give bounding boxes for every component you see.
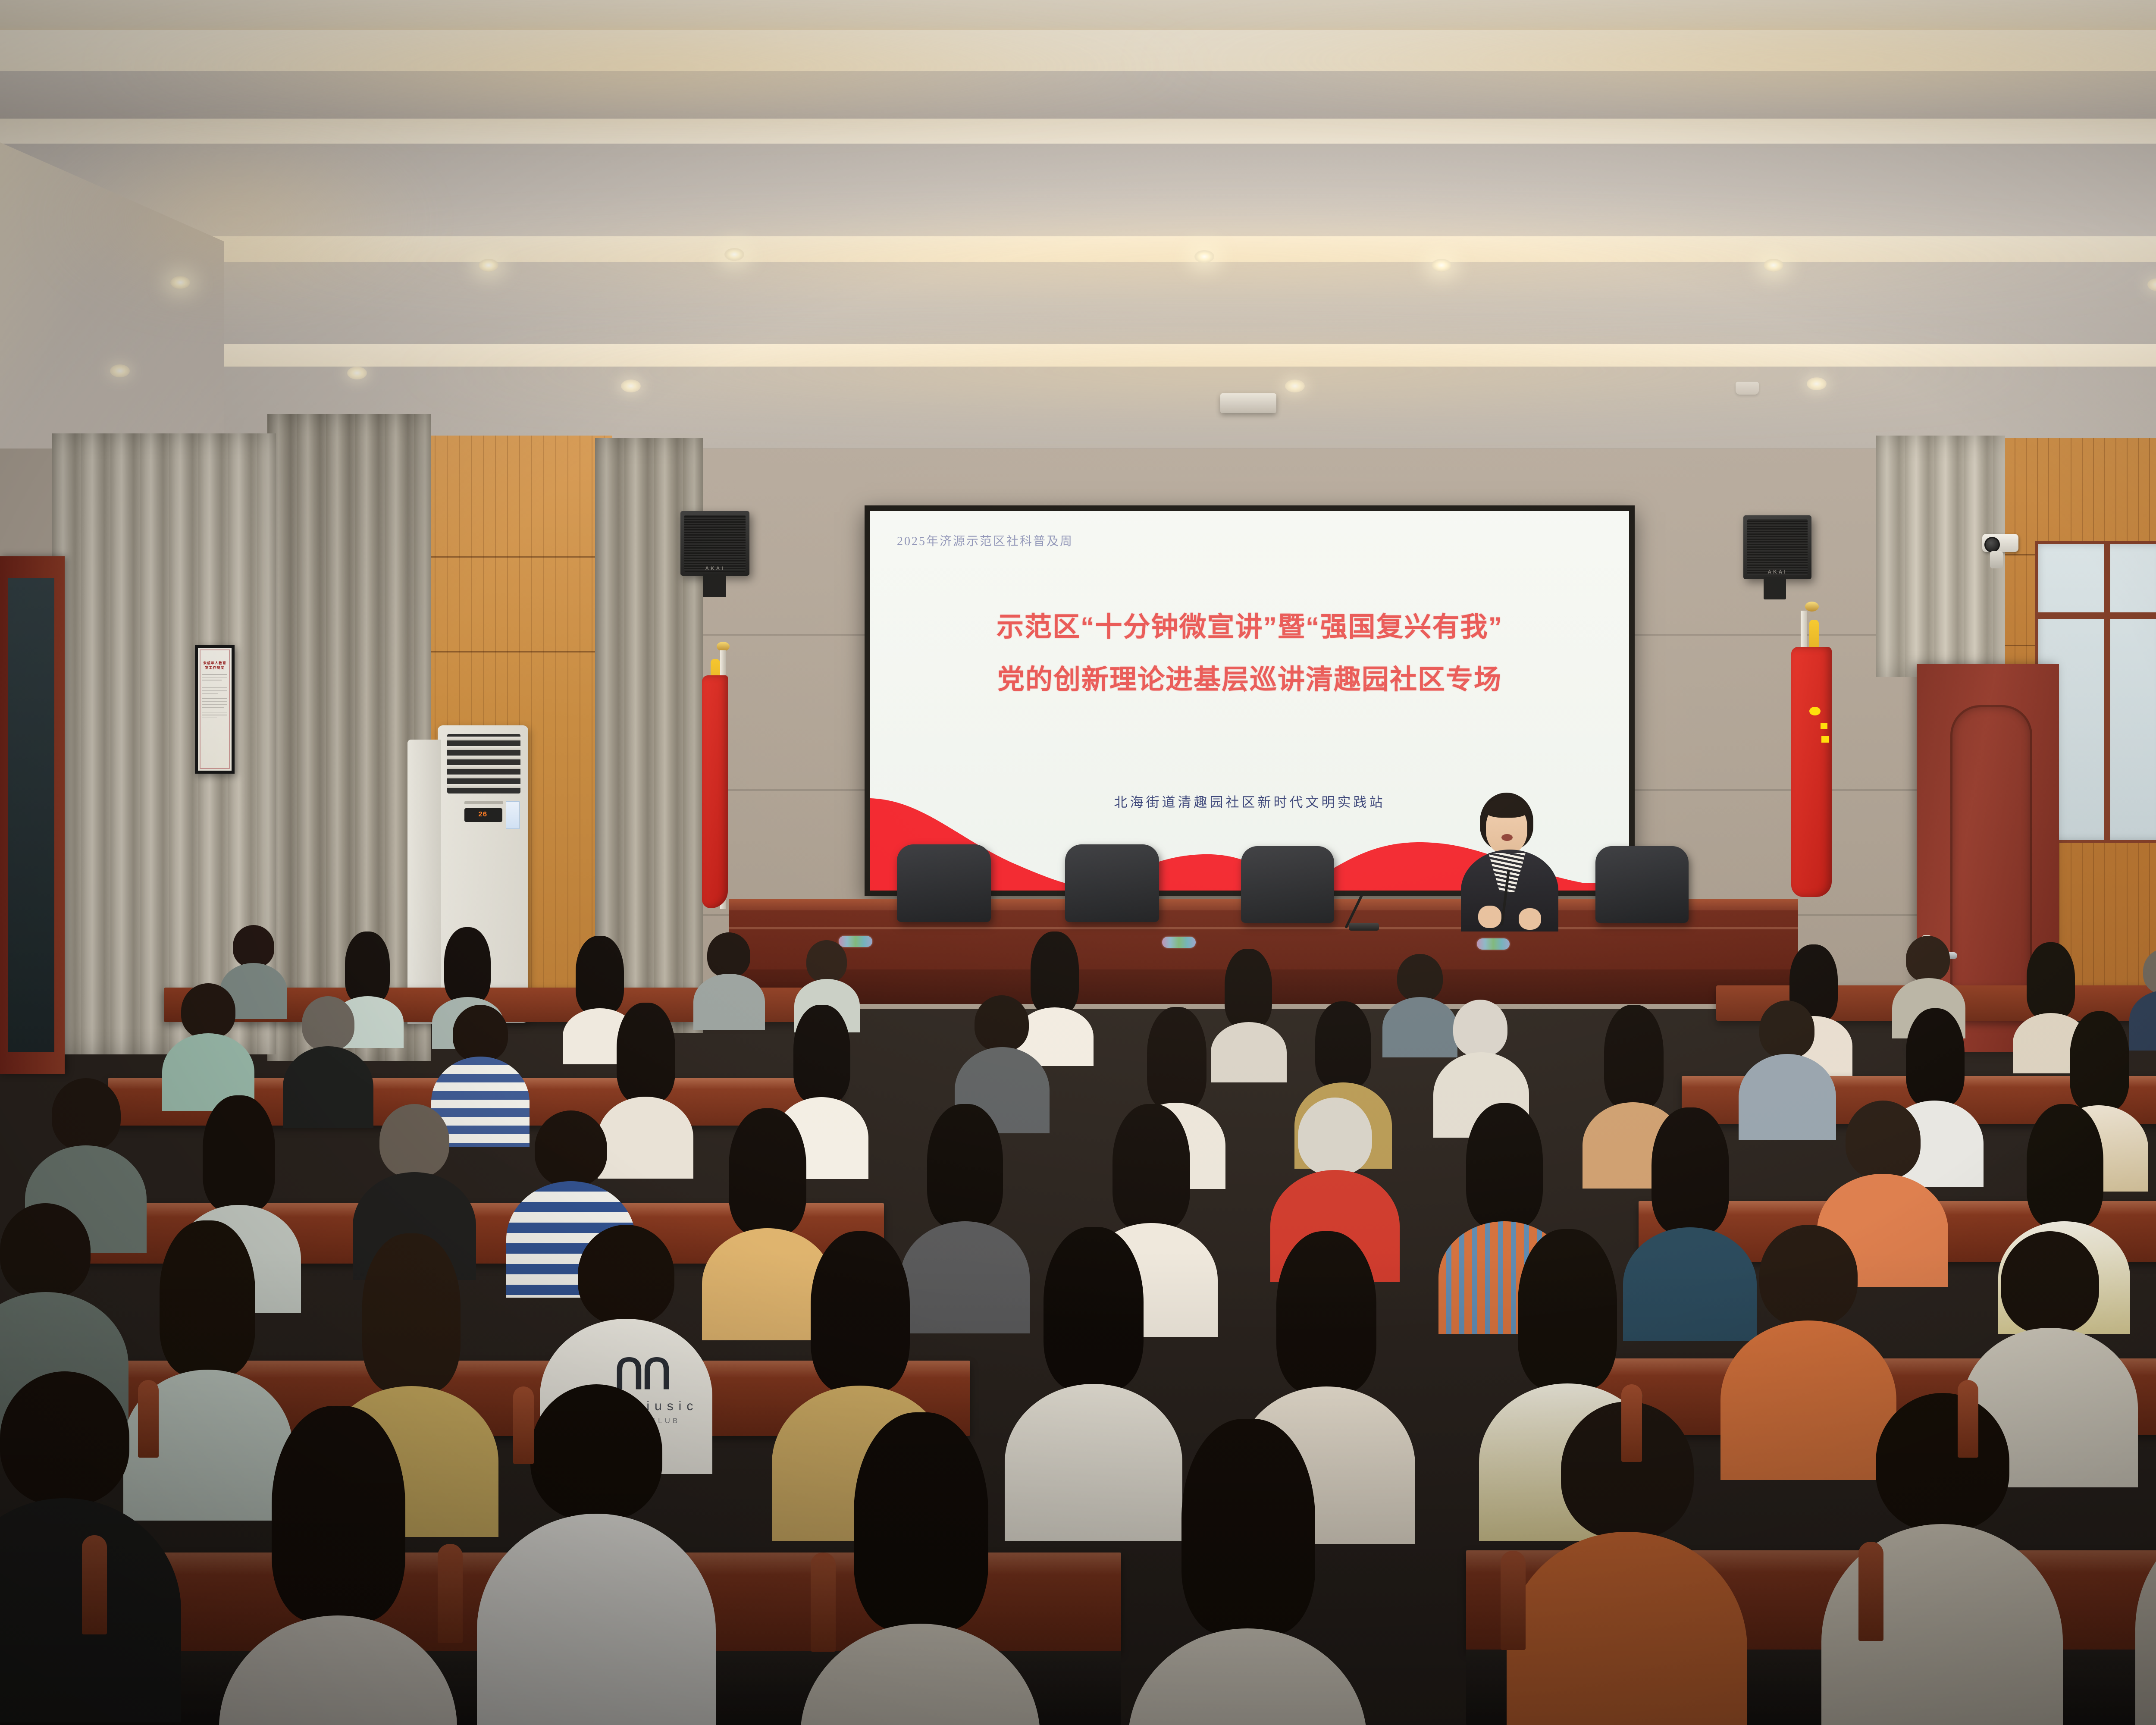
executive-chair [1241, 846, 1334, 923]
bench-armrest [82, 1535, 107, 1634]
ceiling-downlight [724, 248, 744, 261]
ceiling-downlight [1285, 379, 1305, 392]
wall-notice-poster-left: 未成年人教育室工作制度 [195, 645, 235, 774]
executive-chair [1595, 846, 1689, 923]
smoke-detector-icon [1736, 382, 1759, 395]
ac-display: 26 [464, 808, 502, 822]
bench-armrest [1858, 1542, 1883, 1641]
ceiling-downlight [1432, 259, 1451, 272]
ceiling-downlight [479, 259, 498, 272]
executive-chair [897, 844, 991, 922]
energy-label [506, 801, 520, 829]
bench-armrest [1501, 1551, 1526, 1650]
ac-pillar [407, 740, 441, 1024]
bench-armrest [811, 1552, 836, 1652]
flag-star-icon [1809, 707, 1821, 715]
bench-armrest [1621, 1384, 1642, 1462]
presenter [1453, 793, 1565, 931]
ceiling-downlight [1194, 250, 1214, 263]
ceiling-downlight [347, 367, 367, 379]
microphone-base [1349, 923, 1379, 931]
slide-title-line2: 党的创新理论进基层巡讲清趣园社区专场 [870, 658, 1629, 697]
rostrum-decal [1477, 938, 1510, 950]
ceiling-projector [1220, 393, 1276, 413]
ac-temperature-value: 26 [478, 811, 487, 819]
rostrum-decal [839, 936, 872, 947]
bench-armrest [1958, 1380, 1978, 1458]
flag-right [1781, 602, 1854, 903]
ceiling-downlight [1807, 377, 1827, 390]
wall-speaker-right: AKAI [1743, 515, 1811, 579]
bench-armrest [438, 1544, 463, 1643]
bench-armrest [138, 1380, 159, 1458]
bench-armrest [513, 1386, 534, 1464]
wall-speaker-left: AKAI [680, 511, 749, 576]
rostrum-decal [1162, 937, 1196, 948]
slide-title-line1: 示范区“十分钟微宣讲”暨“强国复兴有我” [870, 605, 1629, 644]
cctv-camera [1977, 534, 2029, 581]
speaker-brand-label: AKAI [680, 565, 749, 571]
ceiling-downlight [621, 379, 641, 392]
flag-star-icon [1821, 723, 1827, 729]
conference-hall-photo: 未成年人教育室工作制度 党员教育室工作制度 [0, 0, 2156, 1725]
executive-chair [1065, 844, 1159, 922]
flag-left [690, 642, 755, 909]
flag-star-icon [1821, 736, 1829, 743]
slide-kicker-text: 2025年济源示范区社科普及周 [897, 532, 1073, 549]
side-door-glass [8, 578, 54, 1052]
ceiling-downlight [170, 276, 190, 289]
ceiling-downlight [1764, 259, 1783, 272]
speaker-brand-label: AKAI [1743, 569, 1811, 575]
ceiling-downlight [110, 364, 130, 377]
